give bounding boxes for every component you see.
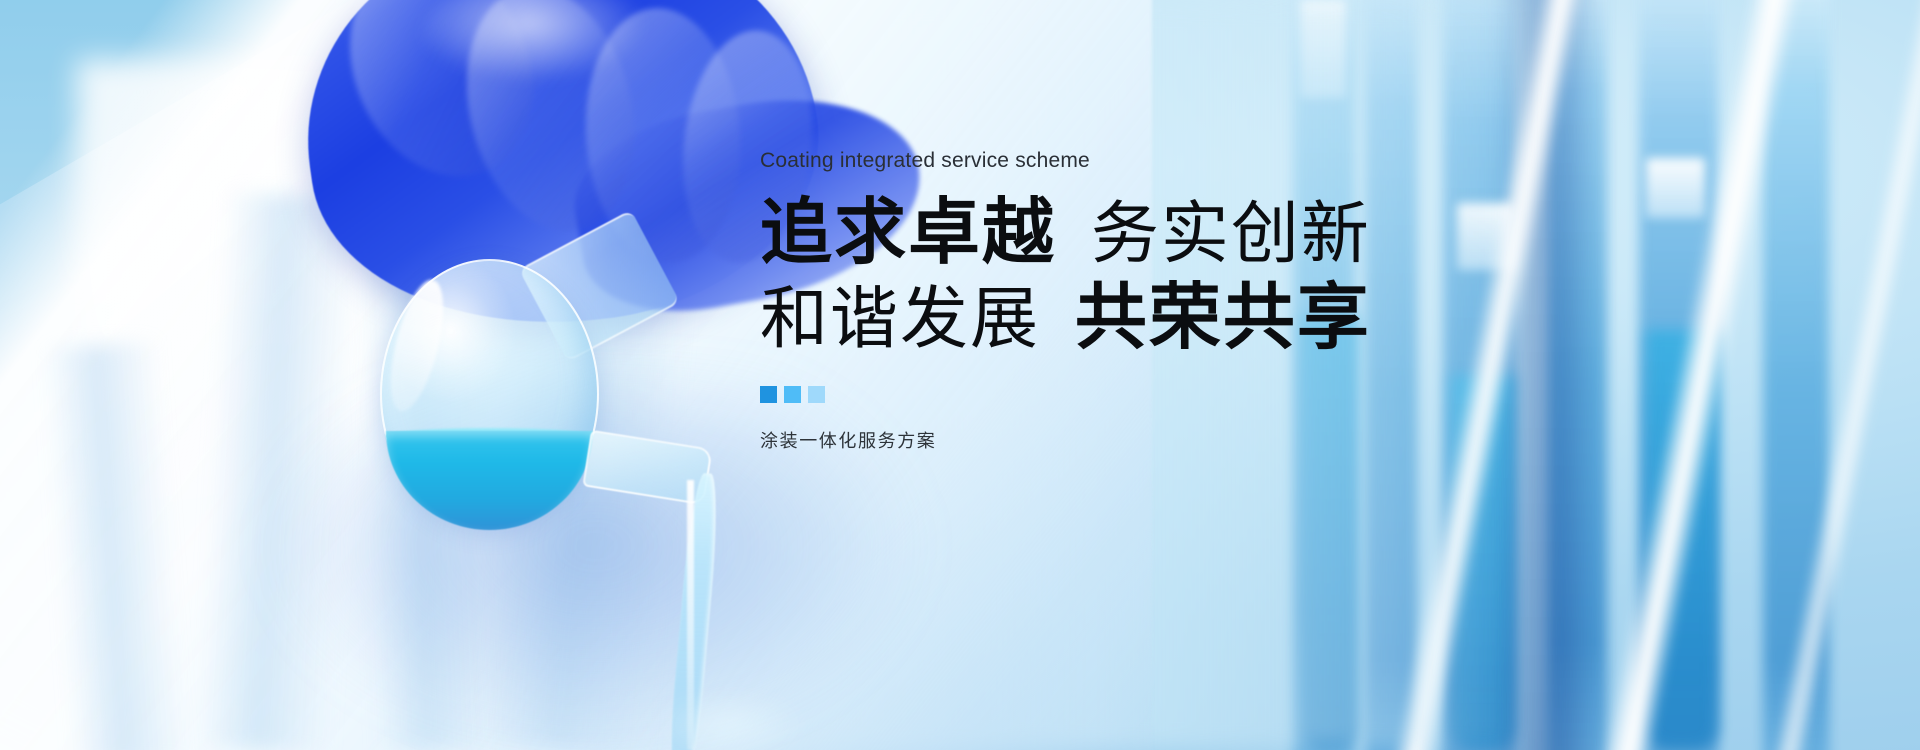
stream-splash: [634, 698, 826, 750]
eyebrow-text: Coating integrated service scheme: [760, 148, 1500, 173]
square-decoration: [760, 386, 1500, 403]
caption-text: 涂装一体化服务方案: [760, 427, 1500, 453]
headline-line2-light: 和谐发展: [760, 281, 1040, 357]
headline-line-1: 追求卓越 务实创新: [760, 195, 1500, 271]
hero-content: Coating integrated service scheme 追求卓越 务…: [760, 148, 1500, 453]
decor-square-1: [760, 386, 777, 403]
headline-line1-strong: 追求卓越: [760, 193, 1056, 273]
decor-square-3: [808, 386, 825, 403]
tube-cap-3: [1646, 158, 1705, 218]
headline-line1-light: 务实创新: [1091, 196, 1371, 272]
headline-line2-strong: 共荣共享: [1075, 278, 1371, 358]
headline-line-2: 和谐发展 共荣共享: [760, 280, 1500, 356]
headline: 追求卓越 务实创新 和谐发展 共荣共享: [760, 195, 1500, 356]
hero-banner: Coating integrated service scheme 追求卓越 务…: [0, 0, 1920, 750]
decor-square-2: [784, 386, 801, 403]
